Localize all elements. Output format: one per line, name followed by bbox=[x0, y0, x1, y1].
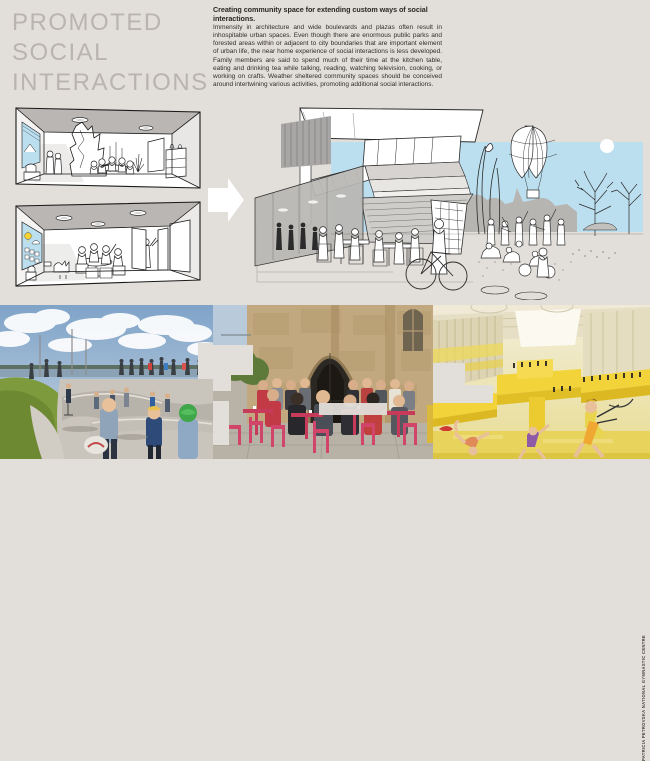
photo-strip: PATRICIA PETROVSKA NATIONAL GYMNASTIC CE… bbox=[0, 305, 650, 459]
photo-cathedral-plaza-cafe bbox=[213, 305, 433, 459]
page-title-line-3: INTERACTIONS bbox=[12, 68, 212, 98]
community-plaza-perspective bbox=[243, 104, 643, 300]
presentation-board: PROMOTED SOCIAL INTERACTIONS Creating co… bbox=[0, 0, 650, 459]
photo-skatepark-waterfront bbox=[0, 305, 213, 459]
transformation-arrow bbox=[206, 176, 246, 224]
interior-sketch-crowded-room bbox=[14, 104, 202, 194]
sketch-panels bbox=[14, 104, 202, 294]
page-title-line-1: PROMOTED bbox=[12, 8, 212, 38]
interior-sketch-family-table bbox=[14, 200, 202, 290]
photo-gymnastics-center-interior bbox=[433, 305, 650, 459]
credit-text: PATRICIA PETROVSKA NATIONAL GYMNASTIC CE… bbox=[637, 605, 649, 761]
description-block: Creating community space for extending c… bbox=[213, 6, 442, 89]
page-title-line-2: SOCIAL bbox=[12, 38, 212, 68]
description-body: Immensity in architecture and wide boule… bbox=[213, 24, 442, 89]
description-heading: Creating community space for extending c… bbox=[213, 6, 442, 23]
page-title: PROMOTED SOCIAL INTERACTIONS bbox=[12, 8, 212, 98]
